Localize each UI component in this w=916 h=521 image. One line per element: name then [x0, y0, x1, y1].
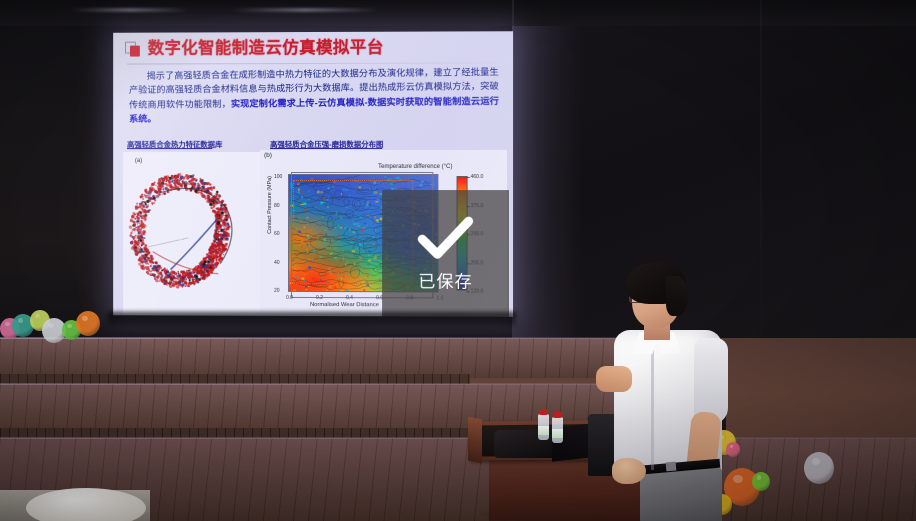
presenter-belt-buckle: [666, 462, 677, 472]
panel-a-heading-underline: [127, 148, 212, 149]
podium-left-rim: [468, 417, 482, 464]
heatmap-xtick: 0.2: [316, 295, 323, 301]
stage-edge: [0, 383, 700, 385]
figure-b-tag: (b): [264, 152, 272, 159]
slide-title: 数字化智能制造云仿真模拟平台: [148, 40, 384, 57]
saved-toast: 已保存: [382, 190, 509, 317]
check-icon: [416, 215, 474, 261]
heatmap-xtick: 0.0: [286, 295, 293, 301]
title-divider: [127, 62, 497, 64]
presenter: [596, 262, 766, 521]
wall-glow: [512, 0, 582, 352]
slide-body-text: 揭示了高强轻质合金在成形制造中热力特征的大数据分布及演化规律，建立了经批量生产验…: [129, 65, 499, 126]
heatmap-ytick: 20: [274, 288, 280, 294]
presenter-shirt-placket: [651, 350, 654, 470]
ceiling: [0, 0, 916, 26]
figure-a-scatter: (a): [123, 152, 262, 317]
heatmap-title: Temperature difference (°C): [378, 164, 452, 170]
presenter-left-arm: [596, 366, 632, 392]
red-square-icon: [125, 41, 141, 58]
heatmap-xlabel: Normalised Wear Distance: [310, 302, 379, 308]
projection-screen: 数字化智能制造云仿真模拟平台 揭示了高强轻质合金在成形制造中热力特征的大数据分布…: [113, 31, 513, 317]
colorbar-tick: 460.0: [471, 174, 484, 180]
screen-bottom-shadow: [108, 312, 516, 326]
heatmap-ytick: 80: [274, 202, 280, 208]
panel-b-heading-underline: [270, 148, 382, 149]
stage-edge: [0, 437, 916, 439]
presenter-hair-side: [666, 276, 688, 316]
white-round-object: [26, 488, 146, 521]
screenshot-root: 数字化智能制造云仿真模拟平台 揭示了高强轻质合金在成形制造中热力特征的大数据分布…: [0, 0, 916, 521]
heatmap-ytick: 100: [274, 174, 282, 180]
heatmap-ytick: 40: [274, 259, 280, 265]
saved-toast-label: 已保存: [418, 267, 472, 292]
slide-surface: 数字化智能制造云仿真模拟平台 揭示了高强轻质合金在成形制造中热力特征的大数据分布…: [113, 31, 513, 317]
ceiling-light: [230, 8, 380, 12]
scatter-point-cloud: [123, 152, 262, 317]
heatmap-xtick: 0.4: [346, 295, 353, 301]
heatmap-ytick: 60: [274, 231, 280, 237]
balloon: [804, 452, 834, 484]
stage-tier-1: [0, 338, 640, 378]
heatmap-ylabel: Contact Pressure (MPa): [267, 169, 273, 241]
water-bottle: [538, 414, 549, 440]
presenter-trousers: [640, 468, 722, 521]
stage-edge: [0, 337, 640, 339]
ceiling-light: [70, 8, 190, 12]
slide-title-row: 数字化智能制造云仿真模拟平台: [125, 40, 384, 58]
water-bottle: [552, 417, 563, 443]
presenter-hand: [612, 458, 646, 484]
